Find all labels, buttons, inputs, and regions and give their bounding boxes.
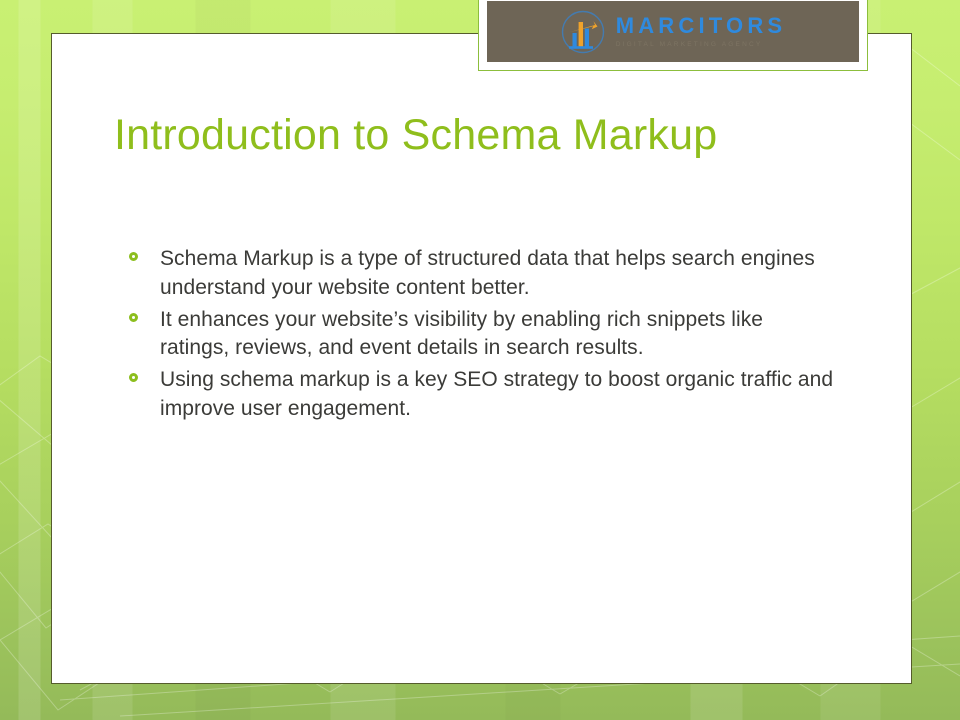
slide-title: Introduction to Schema Markup bbox=[114, 108, 814, 163]
logo-tagline: DIGITAL MARKETING AGENCY bbox=[616, 42, 763, 49]
slide-canvas: MARCITORS DIGITAL MARKETING AGENCY Intro… bbox=[0, 0, 960, 720]
bullet-item: Schema Markup is a type of structured da… bbox=[128, 245, 838, 303]
bullet-ring-icon bbox=[129, 373, 138, 382]
bullet-ring-icon bbox=[129, 313, 138, 322]
logo-inner-plate: MARCITORS DIGITAL MARKETING AGENCY bbox=[487, 1, 859, 62]
logo-banner[interactable]: MARCITORS DIGITAL MARKETING AGENCY bbox=[478, 0, 868, 71]
bullet-text: Using schema markup is a key SEO strateg… bbox=[160, 368, 833, 420]
bullet-text: It enhances your website’s visibility by… bbox=[160, 308, 763, 360]
bullet-item: It enhances your website’s visibility by… bbox=[128, 306, 838, 364]
logo-wordmark: MARCITORS bbox=[616, 15, 787, 37]
marcitors-circle-chart-icon bbox=[560, 9, 606, 55]
slide-bullet-list: Schema Markup is a type of structured da… bbox=[128, 245, 838, 427]
logo-text-group: MARCITORS DIGITAL MARKETING AGENCY bbox=[616, 15, 787, 49]
bullet-text: Schema Markup is a type of structured da… bbox=[160, 247, 815, 299]
bullet-ring-icon bbox=[129, 252, 138, 261]
bullet-item: Using schema markup is a key SEO strateg… bbox=[128, 366, 838, 424]
